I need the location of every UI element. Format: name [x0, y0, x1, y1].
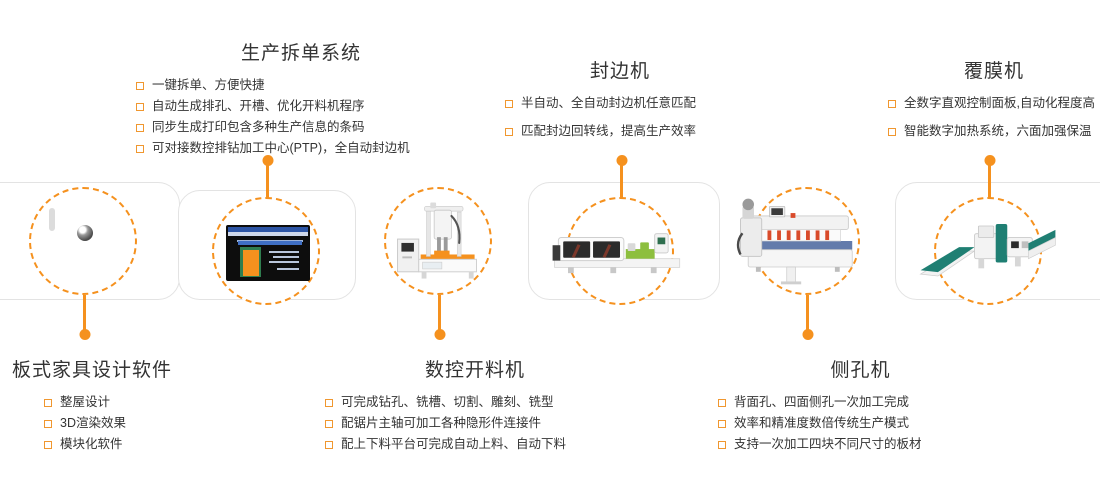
connector-node-5 — [806, 295, 809, 335]
feature-item: 全数字直观控制面板,自动化程度高 — [888, 93, 1100, 114]
feature-text: 配上下料平台可完成自动上料、自动下料 — [341, 434, 566, 455]
feature-item: 可完成钻孔、铣槽、切割、雕刻、铣型 — [325, 392, 625, 413]
feature-text: 模块化软件 — [60, 434, 123, 455]
feature-list: 全数字直观控制面板,自动化程度高 智能数字加热系统，六面加强保温 — [888, 93, 1100, 142]
feature-text: 3D渲染效果 — [60, 413, 126, 434]
connector-dot — [984, 155, 995, 166]
node-production-split-system[interactable] — [212, 197, 320, 305]
feature-text: 背面孔、四面侧孔一次加工完成 — [734, 392, 909, 413]
bullet-square-icon — [718, 420, 726, 428]
feature-list: 半自动、全自动封边机任意匹配 匹配封边回转线，提高生产效率 — [505, 93, 735, 142]
block-title: 板式家具设计软件 — [12, 355, 262, 382]
connector-node-3 — [438, 295, 441, 335]
desktop-computer-icon — [31, 189, 135, 293]
laminating-machine-icon — [936, 199, 1040, 303]
bullet-square-icon — [44, 399, 52, 407]
feature-list: 可完成钻孔、铣槽、切割、雕刻、铣型 配锯片主轴可加工各种隐形件连接件 配上下料平… — [325, 392, 625, 455]
software-screen-icon — [214, 199, 318, 303]
block-production-split-system: 生产拆单系统 一键拆单、方便快捷 自动生成排孔、开槽、优化开料机程序 同步生成打… — [136, 38, 466, 159]
block-title: 封边机 — [505, 56, 735, 83]
feature-item: 模块化软件 — [44, 434, 262, 455]
feature-text: 自动生成排孔、开槽、优化开料机程序 — [152, 96, 365, 117]
feature-list: 整屋设计 3D渲染效果 模块化软件 — [12, 392, 262, 455]
connector-dot — [434, 329, 445, 340]
connector-node-6 — [988, 160, 991, 200]
block-title: 侧孔机 — [718, 355, 1003, 382]
feature-item: 一键拆单、方便快捷 — [136, 75, 466, 96]
feature-item: 智能数字加热系统，六面加强保温 — [888, 121, 1100, 142]
feature-text: 匹配封边回转线，提高生产效率 — [521, 121, 696, 142]
bullet-square-icon — [44, 420, 52, 428]
feature-text: 配锯片主轴可加工各种隐形件连接件 — [341, 413, 541, 434]
feature-item: 同步生成打印包含多种生产信息的条码 — [136, 117, 466, 138]
feature-item: 整屋设计 — [44, 392, 262, 413]
block-design-software: 板式家具设计软件 整屋设计 3D渲染效果 模块化软件 — [12, 355, 262, 455]
node-design-software[interactable] — [29, 187, 137, 295]
feature-text: 可对接数控排钻加工中心(PTP)，全自动封边机 — [152, 138, 410, 159]
block-edge-banding-machine: 封边机 半自动、全自动封边机任意匹配 匹配封边回转线，提高生产效率 — [505, 56, 735, 142]
block-title: 生产拆单系统 — [136, 38, 466, 65]
edge-banding-machine-icon — [568, 199, 672, 303]
bullet-square-icon — [718, 441, 726, 449]
feature-item: 支持一次加工四块不同尺寸的板材 — [718, 434, 1003, 455]
node-cnc-cutting-machine[interactable] — [384, 187, 492, 295]
bullet-square-icon — [718, 399, 726, 407]
feature-item: 可对接数控排钻加工中心(PTP)，全自动封边机 — [136, 138, 466, 159]
feature-list: 一键拆单、方便快捷 自动生成排孔、开槽、优化开料机程序 同步生成打印包含多种生产… — [136, 75, 466, 159]
block-side-hole-machine: 侧孔机 背面孔、四面侧孔一次加工完成 效率和精准度数倍传统生产模式 支持一次加工… — [718, 355, 1003, 455]
bullet-square-icon — [888, 100, 896, 108]
node-laminating-machine[interactable] — [934, 197, 1042, 305]
connector-node-1 — [83, 295, 86, 335]
feature-item: 半自动、全自动封边机任意匹配 — [505, 93, 735, 114]
feature-text: 半自动、全自动封边机任意匹配 — [521, 93, 696, 114]
side-hole-drilling-machine-icon — [754, 189, 858, 293]
feature-text: 整屋设计 — [60, 392, 110, 413]
connector-node-4 — [620, 160, 623, 200]
feature-item: 背面孔、四面侧孔一次加工完成 — [718, 392, 1003, 413]
feature-text: 全数字直观控制面板,自动化程度高 — [904, 93, 1095, 114]
connector-dot — [79, 329, 90, 340]
bullet-square-icon — [136, 124, 144, 132]
bullet-square-icon — [325, 420, 333, 428]
bullet-square-icon — [44, 441, 52, 449]
block-laminating-machine: 覆膜机 全数字直观控制面板,自动化程度高 智能数字加热系统，六面加强保温 — [888, 56, 1100, 142]
bullet-square-icon — [325, 441, 333, 449]
feature-item: 匹配封边回转线，提高生产效率 — [505, 121, 735, 142]
feature-item: 效率和精准度数倍传统生产模式 — [718, 413, 1003, 434]
feature-item: 配锯片主轴可加工各种隐形件连接件 — [325, 413, 625, 434]
block-title: 数控开料机 — [325, 355, 625, 382]
node-side-hole-machine[interactable] — [752, 187, 860, 295]
feature-text: 同步生成打印包含多种生产信息的条码 — [152, 117, 365, 138]
connector-dot — [802, 329, 813, 340]
block-cnc-cutting-machine: 数控开料机 可完成钻孔、铣槽、切割、雕刻、铣型 配锯片主轴可加工各种隐形件连接件… — [325, 355, 625, 455]
bullet-square-icon — [325, 399, 333, 407]
bullet-square-icon — [505, 100, 513, 108]
feature-text: 支持一次加工四块不同尺寸的板材 — [734, 434, 922, 455]
bullet-square-icon — [888, 128, 896, 136]
block-title: 覆膜机 — [888, 56, 1100, 83]
cnc-router-icon — [386, 189, 490, 293]
bullet-square-icon — [136, 103, 144, 111]
node-edge-banding-machine[interactable] — [566, 197, 674, 305]
bullet-square-icon — [505, 128, 513, 136]
connector-dot — [616, 155, 627, 166]
feature-text: 效率和精准度数倍传统生产模式 — [734, 413, 909, 434]
feature-text: 一键拆单、方便快捷 — [152, 75, 265, 96]
connector-node-2 — [266, 160, 269, 200]
feature-text: 可完成钻孔、铣槽、切割、雕刻、铣型 — [341, 392, 554, 413]
bullet-square-icon — [136, 82, 144, 90]
feature-text: 智能数字加热系统，六面加强保温 — [904, 121, 1092, 142]
bullet-square-icon — [136, 145, 144, 153]
feature-item: 3D渲染效果 — [44, 413, 262, 434]
feature-item: 配上下料平台可完成自动上料、自动下料 — [325, 434, 625, 455]
feature-item: 自动生成排孔、开槽、优化开料机程序 — [136, 96, 466, 117]
infographic-canvas: 生产拆单系统 一键拆单、方便快捷 自动生成排孔、开槽、优化开料机程序 同步生成打… — [0, 0, 1100, 495]
feature-list: 背面孔、四面侧孔一次加工完成 效率和精准度数倍传统生产模式 支持一次加工四块不同… — [718, 392, 1003, 455]
